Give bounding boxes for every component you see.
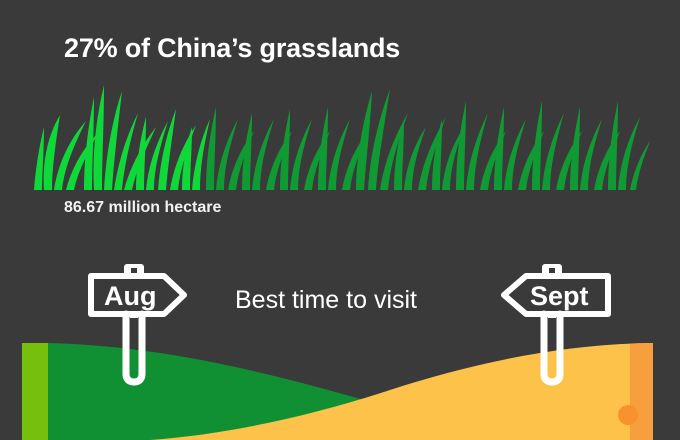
signpost-bottom-bracket: [548, 312, 556, 318]
signpost-bolt-hole: [549, 268, 555, 273]
signpost-label-aug: Aug: [104, 281, 156, 311]
grass-blades-dark: [206, 89, 650, 190]
signpost-bolt-hole: [131, 268, 137, 273]
signpost-label-sept: Sept: [530, 281, 589, 311]
signpost-post: [544, 314, 560, 382]
signpost-post: [126, 314, 142, 382]
grass-illustration: [0, 55, 680, 195]
signpost-right-icon: Aug: [86, 262, 196, 382]
best-time-caption: Best time to visit: [235, 286, 417, 315]
stat-caption: 86.67 million hectare: [64, 199, 221, 217]
grass-blades-bright: [34, 85, 210, 190]
page-title: 27% of China’s grasslands: [64, 33, 400, 64]
signpost-bottom-bracket: [130, 312, 138, 318]
signpost-aug[interactable]: Aug: [86, 262, 196, 382]
orange-hill-edge-strip: [630, 343, 653, 440]
signpost-sept[interactable]: Sept: [496, 262, 616, 382]
infographic-panel: 27% of China’s grasslands: [0, 0, 680, 440]
grass-icon: [0, 55, 680, 195]
signpost-left-icon: Sept: [496, 262, 616, 382]
green-hill-edge-strip: [22, 343, 48, 440]
orange-dot-icon: [618, 405, 638, 425]
